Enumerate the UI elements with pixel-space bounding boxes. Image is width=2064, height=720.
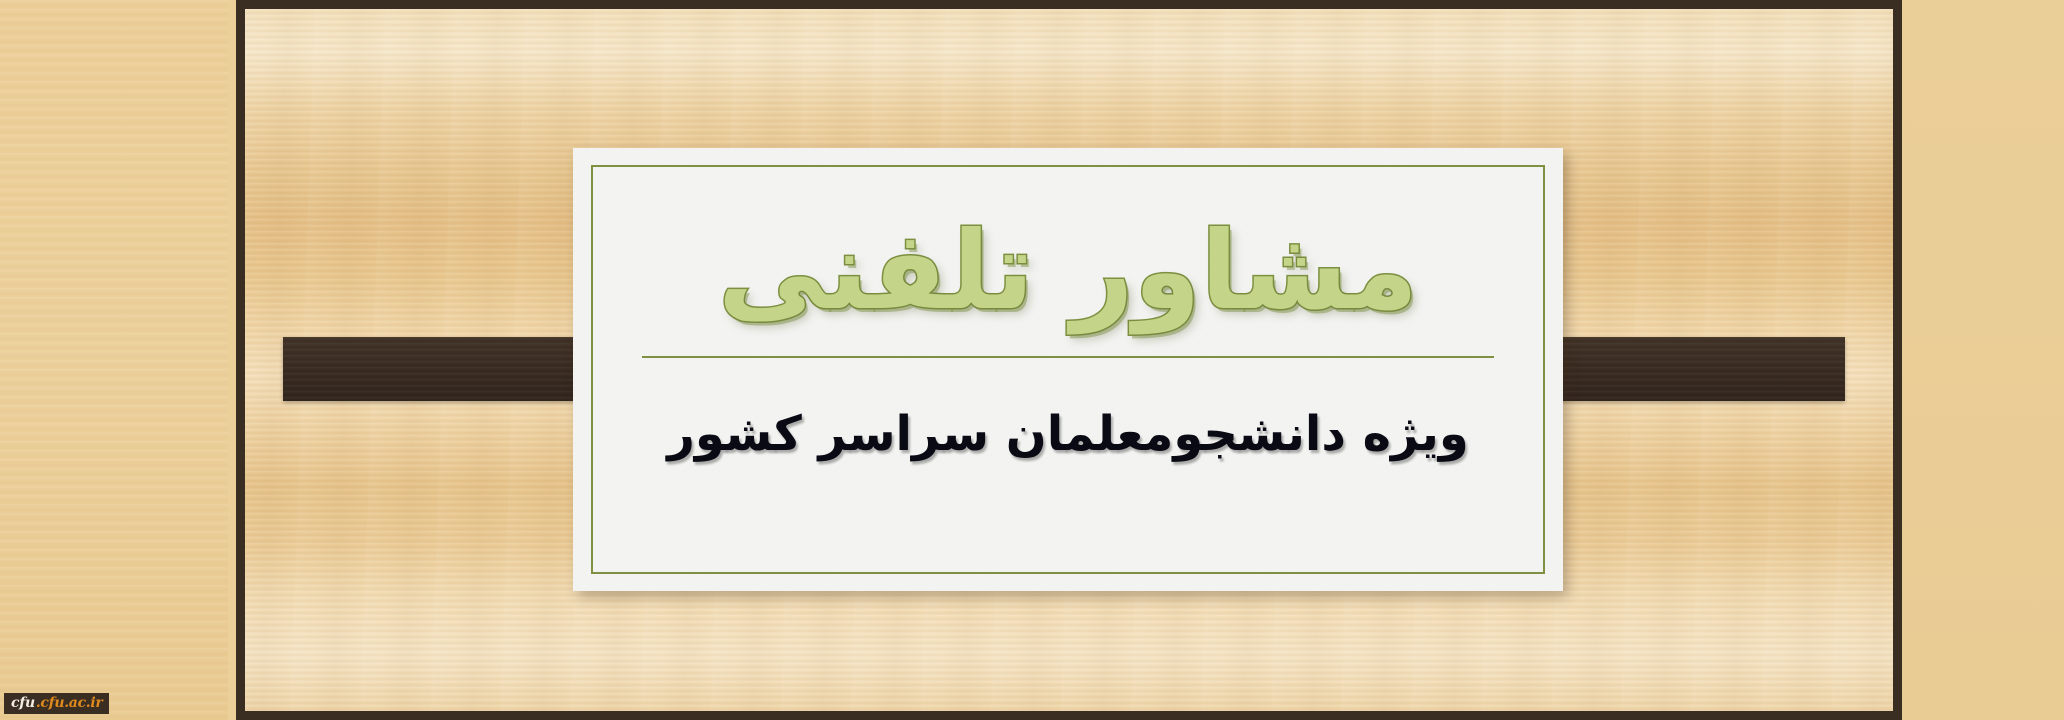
title-card: مشاور تلفنی ویژه دانشجومعلمان سراسر کشور [573, 148, 1563, 591]
title-divider [642, 356, 1494, 358]
frame-left-gutter [228, 0, 236, 720]
left-wood-strip [0, 0, 236, 720]
page-subtitle: ویژه دانشجومعلمان سراسر کشور [667, 406, 1468, 462]
card-content: مشاور تلفنی ویژه دانشجومعلمان سراسر کشور [573, 148, 1563, 591]
page-title: مشاور تلفنی [718, 206, 1418, 338]
decorative-bar-right [1530, 337, 1845, 401]
slide-root: مشاور تلفنی ویژه دانشجومعلمان سراسر کشور… [0, 0, 2064, 720]
watermark-domain: .cfu.ac.ir [36, 696, 103, 710]
site-watermark: cfu .cfu.ac.ir [4, 693, 109, 714]
watermark-prefix: cfu [11, 696, 35, 710]
decorative-bar-left [283, 337, 615, 401]
right-wood-strip [1902, 0, 2064, 720]
